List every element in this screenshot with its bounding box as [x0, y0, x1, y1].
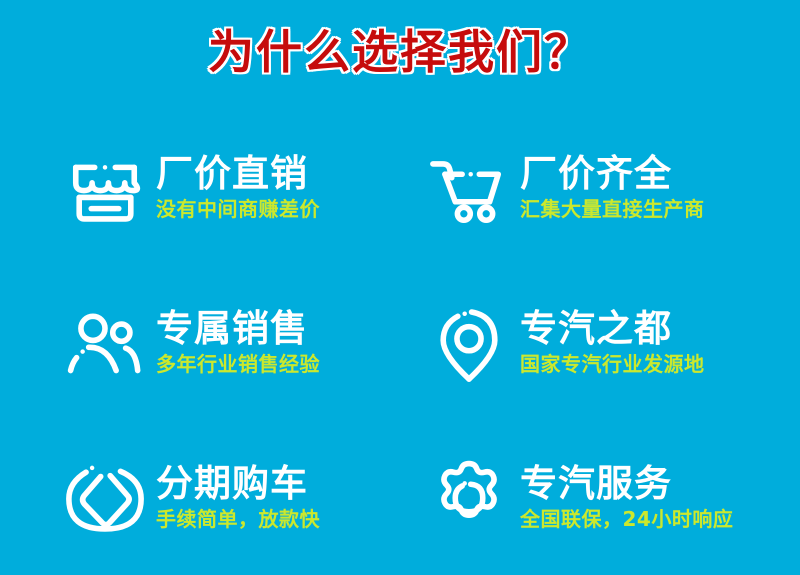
promo-poster: 为什么选择我们？ 厂价直销 没有中间商赚差价: [0, 0, 800, 567]
map-pin-icon: [426, 300, 512, 386]
feature-heading: 分期购车: [156, 463, 320, 504]
feature-text-block: 分期购车 手续简单，放款快: [156, 463, 320, 532]
feature-text-block: 专汽之都 国家专汽行业发源地: [520, 308, 705, 377]
storefront-icon: [62, 145, 148, 231]
feature-heading: 专属销售: [156, 308, 320, 349]
feature-subtitle: 汇集大量直接生产商: [520, 197, 705, 222]
feature-subtitle: 手续简单，放款快: [156, 507, 320, 532]
feature-heading: 厂价直销: [156, 153, 320, 194]
poster-title-container: 为什么选择我们？: [0, 24, 800, 82]
feature-subtitle: 全国联保，24小时响应: [520, 507, 733, 532]
feature-item-full-price-range: 厂价齐全 汇集大量直接生产商: [390, 110, 800, 265]
diamond-in-circle-icon: [62, 455, 148, 541]
feature-heading: 厂价齐全: [520, 153, 705, 194]
feature-subtitle: 没有中间商赚差价: [156, 197, 320, 222]
feature-item-special-vehicle-city: 专汽之都 国家专汽行业发源地: [390, 265, 800, 420]
feature-subtitle: 国家专汽行业发源地: [520, 352, 705, 377]
feature-text-block: 专属销售 多年行业销售经验: [156, 308, 320, 377]
feature-item-factory-direct-sales: 厂价直销 没有中间商赚差价: [0, 110, 390, 265]
feature-heading: 专汽之都: [520, 308, 705, 349]
feature-item-dedicated-sales: 专属销售 多年行业销售经验: [0, 265, 390, 420]
page-title: 为什么选择我们？: [208, 24, 592, 82]
feature-text-block: 厂价直销 没有中间商赚差价: [156, 153, 320, 222]
feature-grid: 厂价直销 没有中间商赚差价 厂价齐全 汇集大量直接生产商: [0, 110, 800, 550]
two-people-icon: [62, 300, 148, 386]
feature-item-installment-purchase: 分期购车 手续简单，放款快: [0, 420, 390, 575]
gear-icon: [426, 455, 512, 541]
feature-text-block: 专汽服务 全国联保，24小时响应: [520, 463, 733, 532]
feature-item-special-vehicle-service: 专汽服务 全国联保，24小时响应: [390, 420, 800, 575]
feature-subtitle: 多年行业销售经验: [156, 352, 320, 377]
shopping-cart-icon: [426, 145, 512, 231]
feature-text-block: 厂价齐全 汇集大量直接生产商: [520, 153, 705, 222]
feature-heading: 专汽服务: [520, 463, 733, 504]
